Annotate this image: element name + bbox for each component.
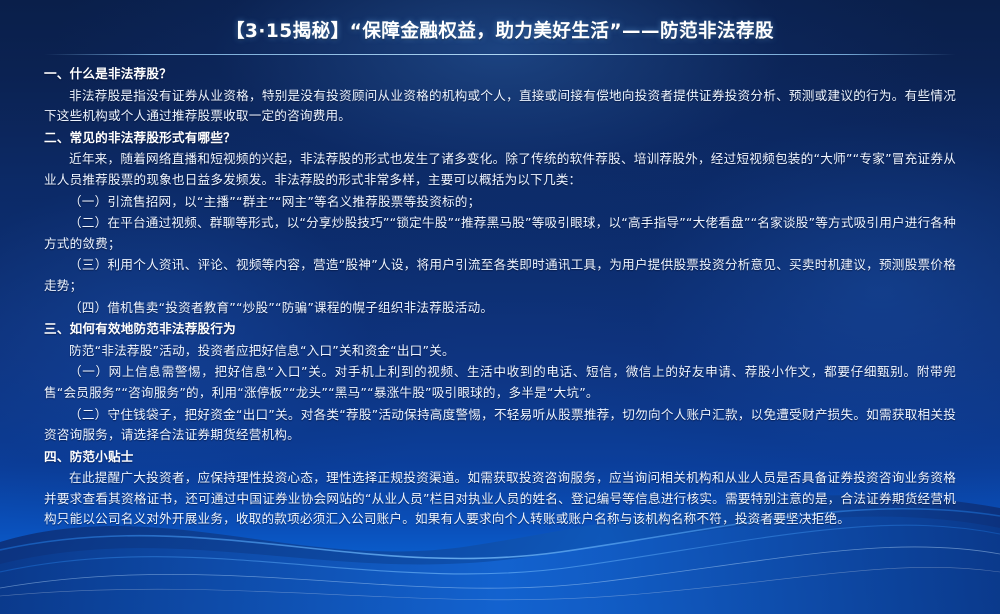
section-heading: 一、什么是非法荐股？ <box>44 64 956 85</box>
section-heading: 四、防范小贴士 <box>44 447 956 468</box>
section-paragraph: 在此提醒广大投资者，应保持理性投资心态，理性选择正规投资渠道。如需获取投资咨询服… <box>44 468 956 530</box>
section-paragraph: （四）借机售卖“投资者教育”“炒股”“防骗”课程的幌子组织非法荐股活动。 <box>44 298 956 319</box>
section-paragraph: 非法荐股是指没有证券从业资格，特别是没有投资顾问从业资格的机构或个人，直接或间接… <box>44 86 956 127</box>
section-paragraph: （三）利用个人资讯、评论、视频等内容，营造“股神”人设，将用户引流至各类即时通讯… <box>44 255 956 296</box>
section-paragraph: 近年来，随着网络直播和短视频的兴起，非法荐股的形式也发生了诸多变化。除了传统的软… <box>44 149 956 190</box>
section-paragraph: （二）在平台通过视频、群聊等形式，以“分享炒股技巧”“锁定牛股”“推荐黑马股”等… <box>44 213 956 254</box>
section-heading: 二、常见的非法荐股形式有哪些？ <box>44 128 956 149</box>
title-divider <box>44 54 956 55</box>
section-paragraph: （一）引流售招网，以“主播”“群主”“网主”等名义推荐股票等投资标的； <box>44 192 956 213</box>
section-paragraph: （一）网上信息需警惕，把好信息“入口”关。对手机上利到的视频、生活中收到的电话、… <box>44 362 956 403</box>
section-paragraph: （二）守住钱袋子，把好资金“出口”关。对各类“荐股”活动保持高度警惕，不轻易听从… <box>44 405 956 446</box>
section-heading: 三、如何有效地防范非法荐股行为 <box>44 319 956 340</box>
document-page: 【3·15揭秘】“保障金融权益，助力美好生活”——防范非法荐股 一、什么是非法荐… <box>0 0 1000 614</box>
document-content: 【3·15揭秘】“保障金融权益，助力美好生活”——防范非法荐股 一、什么是非法荐… <box>0 17 1000 530</box>
section-paragraph: 防范“非法荐股”活动，投资者应把好信息“入口”关和资金“出口”关。 <box>44 341 956 362</box>
document-body: 一、什么是非法荐股？ 非法荐股是指没有证券从业资格，特别是没有投资顾问从业资格的… <box>44 64 956 530</box>
page-title: 【3·15揭秘】“保障金融权益，助力美好生活”——防范非法荐股 <box>0 17 1000 43</box>
